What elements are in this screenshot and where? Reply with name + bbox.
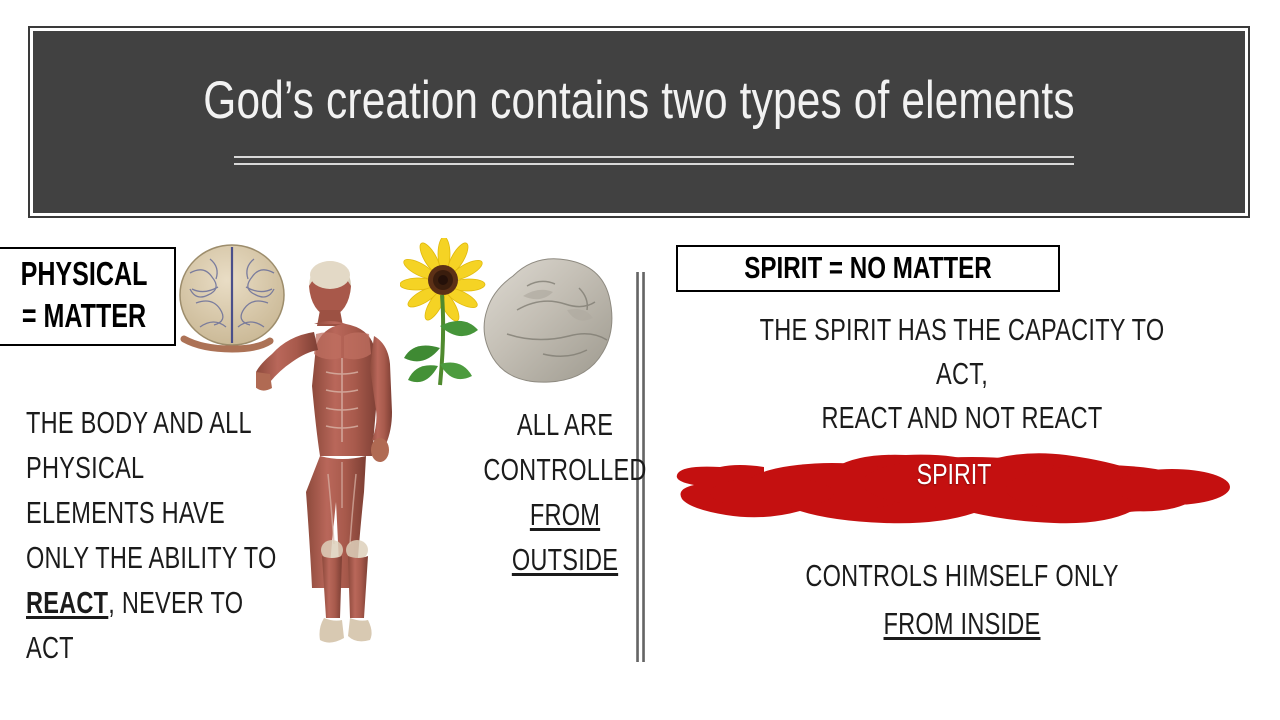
right-top-line-2: REACT AND NOT REACT <box>742 396 1183 440</box>
right-bottom-line-1: CONTROLS HIMSELF ONLY <box>742 552 1183 600</box>
physical-label-line-1: PHYSICAL <box>16 255 153 293</box>
rock-icon <box>483 248 615 388</box>
right-top-line-1: THE SPIRIT HAS THE CAPACITY TO ACT, <box>742 308 1183 396</box>
physical-label-box: PHYSICAL = MATTER <box>0 247 176 346</box>
sunflower-icon <box>400 238 486 388</box>
middle-line-1: ALL ARE <box>455 402 675 447</box>
right-bottom-line-2-from-inside: FROM INSIDE <box>742 600 1183 648</box>
spirit-red-blob: SPIRIT <box>672 443 1236 525</box>
middle-line-2: CONTROLLED <box>455 447 675 492</box>
left-body-part1: THE BODY AND ALL PHYSICAL ELEMENTS HAVE … <box>26 405 277 575</box>
middle-column-text: ALL ARE CONTROLLED FROM OUTSIDE <box>455 402 675 582</box>
spirit-label-text: SPIRIT = NO MATTER <box>720 250 1016 286</box>
spirit-blob-label: SPIRIT <box>728 459 1179 492</box>
middle-line-4-outside: OUTSIDE <box>455 537 675 582</box>
spirit-label-box: SPIRIT = NO MATTER <box>676 245 1060 292</box>
physical-label-line-2: = MATTER <box>16 297 153 335</box>
middle-line-3-from: FROM <box>455 492 675 537</box>
left-body-emphasis-react: REACT <box>26 585 108 620</box>
right-bottom-text: CONTROLS HIMSELF ONLY FROM INSIDE <box>742 552 1183 648</box>
presentation-slide: God’s creation contains two types of ele… <box>0 0 1280 720</box>
left-body-text: THE BODY AND ALL PHYSICAL ELEMENTS HAVE … <box>26 400 277 670</box>
right-top-text: THE SPIRIT HAS THE CAPACITY TO ACT, REAC… <box>742 308 1183 440</box>
